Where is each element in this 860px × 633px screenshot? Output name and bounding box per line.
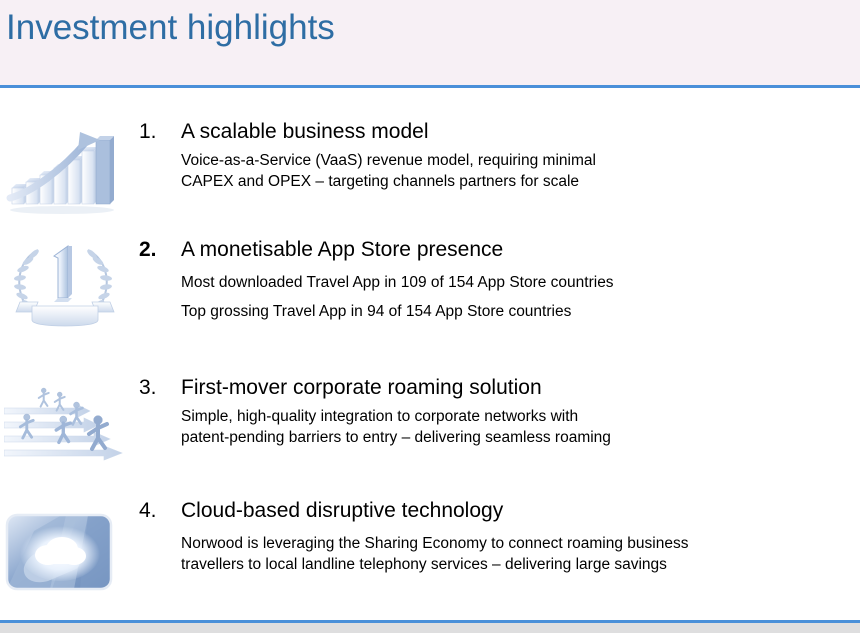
list-item-body-line: Top grossing Travel App in 94 of 154 App…: [181, 301, 854, 322]
list-item-marker: 2.: [139, 236, 157, 264]
list-item-body-line: CAPEX and OPEX – targeting channels part…: [181, 171, 854, 192]
list-item-body-line: Norwood is leveraging the Sharing Econom…: [181, 533, 854, 554]
list-item-marker: 1.: [139, 118, 157, 146]
list-item-body-line: Voice-as-a-Service (VaaS) revenue model,…: [181, 150, 854, 171]
list-item-body: Voice-as-a-Service (VaaS) revenue model,…: [181, 150, 854, 192]
list-item-body: Most downloaded Travel App in 109 of 154…: [181, 272, 854, 322]
list-item-marker: 4.: [139, 497, 157, 525]
laurel-wreath-number-one-icon: [4, 236, 126, 328]
runners-on-arrows-icon: [4, 378, 126, 470]
list-item-heading: A scalable business model: [181, 118, 428, 146]
footer-band: [0, 623, 860, 633]
list-item-body: Simple, high-quality integration to corp…: [181, 406, 854, 448]
slide-header: Investment highlights: [0, 0, 860, 85]
list-item-body-line: patent-pending barriers to entry – deliv…: [181, 427, 854, 448]
list-item-body-line: travellers to local landline telephony s…: [181, 554, 854, 575]
list-item-body: Norwood is leveraging the Sharing Econom…: [181, 533, 854, 575]
list-item-heading: Cloud-based disruptive technology: [181, 497, 503, 525]
list-item-heading: A monetisable App Store presence: [181, 236, 503, 264]
list-item-heading: First-mover corporate roaming solution: [181, 374, 542, 402]
list-item-marker: 3.: [139, 374, 157, 402]
highlights-list: 1. A scalable business model Voice-as-a-…: [0, 88, 860, 620]
page-title: Investment highlights: [6, 6, 335, 50]
list-item-body-line: Most downloaded Travel App in 109 of 154…: [181, 272, 854, 293]
hand-holding-cloud-icon: [4, 509, 126, 601]
list-item-body-line: Simple, high-quality integration to corp…: [181, 406, 854, 427]
growth-bar-chart-icon: [4, 126, 126, 218]
